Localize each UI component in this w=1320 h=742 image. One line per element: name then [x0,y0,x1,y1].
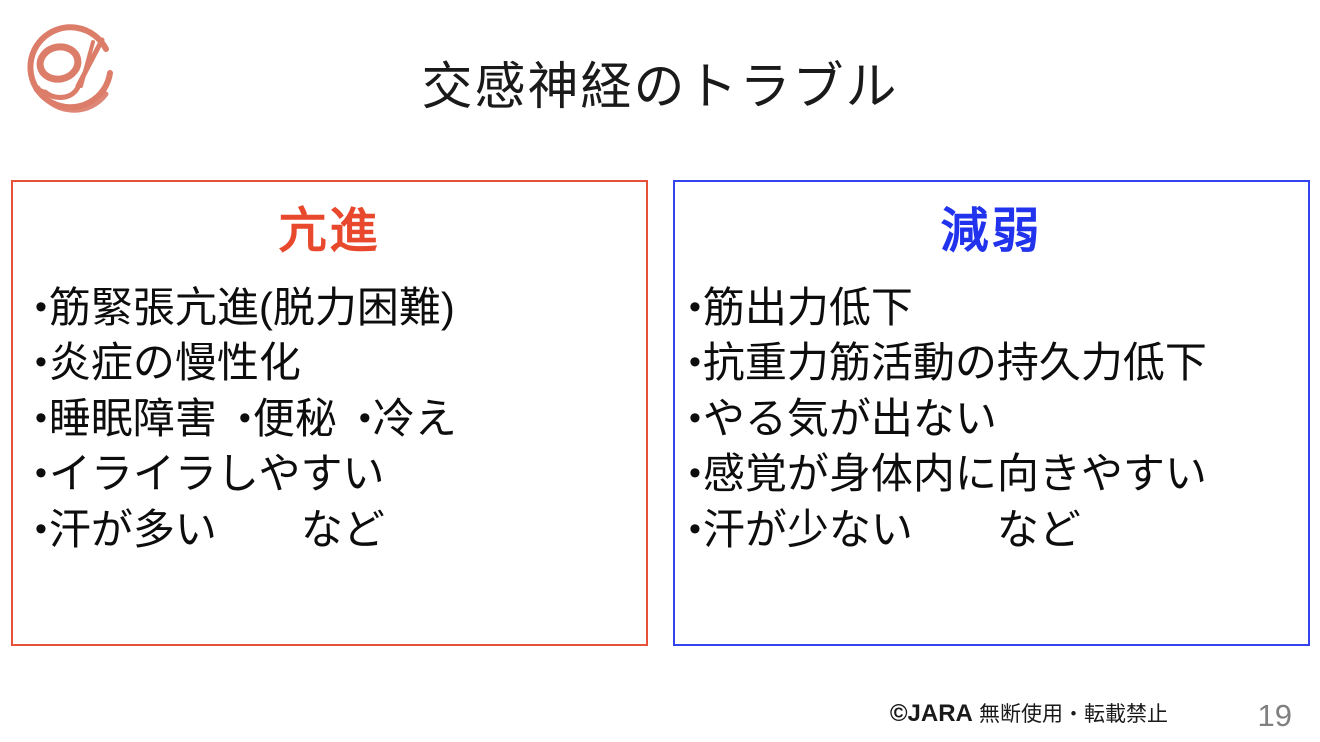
bullet-icon: • [35,290,47,324]
bullet-icon: • [689,290,701,324]
list-item-label: イライラしやすい [49,446,385,501]
list-item-inline: •冷え [359,391,457,446]
page-title: 交感神経のトラブル [0,58,1320,117]
list-item-label: 抗重力筋活動の持久力低下 [703,335,1207,390]
panel-hyperactivity: 亢進 •筋緊張亢進(脱力困難) •炎症の慢性化 •睡眠障害 •便秘 •冷え •イ… [11,180,648,646]
page-number: 19 [1258,698,1292,734]
list-item: •睡眠障害 •便秘 •冷え [35,391,646,446]
list-item-label: 筋緊張亢進(脱力困難) [49,280,455,335]
hyperactivity-symptom-list: •筋緊張亢進(脱力困難) •炎症の慢性化 •睡眠障害 •便秘 •冷え •イライラ… [13,280,646,557]
bullet-icon: • [689,512,701,546]
list-item: •イライラしやすい [35,446,646,501]
list-item: •筋出力低下 [689,280,1308,335]
bullet-icon: • [35,401,47,435]
bullet-icon: • [689,456,701,490]
list-item-inline: •便秘 [239,391,337,446]
list-item-label: 炎症の慢性化 [49,335,301,390]
list-item-label: 汗が多い [49,502,217,557]
list-item: •筋緊張亢進(脱力困難) [35,280,646,335]
bullet-icon: • [35,512,47,546]
list-item: •やる気が出ない [689,391,1308,446]
copyright-notice: ©JARA 無断使用・転載禁止 [890,698,1168,728]
list-item: •抗重力筋活動の持久力低下 [689,335,1308,390]
list-item-trailing: など [913,502,1081,557]
list-item-label: 感覚が身体内に向きやすい [703,446,1207,501]
panel-weakening-heading: 減弱 [675,208,1308,256]
bullet-icon: • [35,345,47,379]
bullet-icon: • [689,401,701,435]
list-item-label: 睡眠障害 [49,391,217,446]
list-item: •汗が少ない など [689,502,1308,557]
bullet-icon: • [359,401,371,435]
list-item: •汗が多い など [35,502,646,557]
bullet-icon: • [35,456,47,490]
list-item-label: やる気が出ない [703,391,997,446]
copyright-note: 無断使用・転載禁止 [979,703,1168,726]
list-item-trailing: など [217,502,385,557]
panel-weakening: 減弱 •筋出力低下 •抗重力筋活動の持久力低下 •やる気が出ない •感覚が身体内… [673,180,1310,646]
list-item: •感覚が身体内に向きやすい [689,446,1308,501]
list-item-label: 筋出力低下 [703,280,913,335]
list-item-label: 便秘 [253,391,337,446]
bullet-icon: • [689,345,701,379]
weakening-symptom-list: •筋出力低下 •抗重力筋活動の持久力低下 •やる気が出ない •感覚が身体内に向き… [675,280,1308,557]
list-item: •炎症の慢性化 [35,335,646,390]
copyright-mark: ©JARA [890,700,973,727]
list-item-label: 汗が少ない [703,502,913,557]
panel-hyperactivity-heading: 亢進 [13,208,646,256]
bullet-icon: • [239,401,251,435]
list-item-label: 冷え [373,391,457,446]
